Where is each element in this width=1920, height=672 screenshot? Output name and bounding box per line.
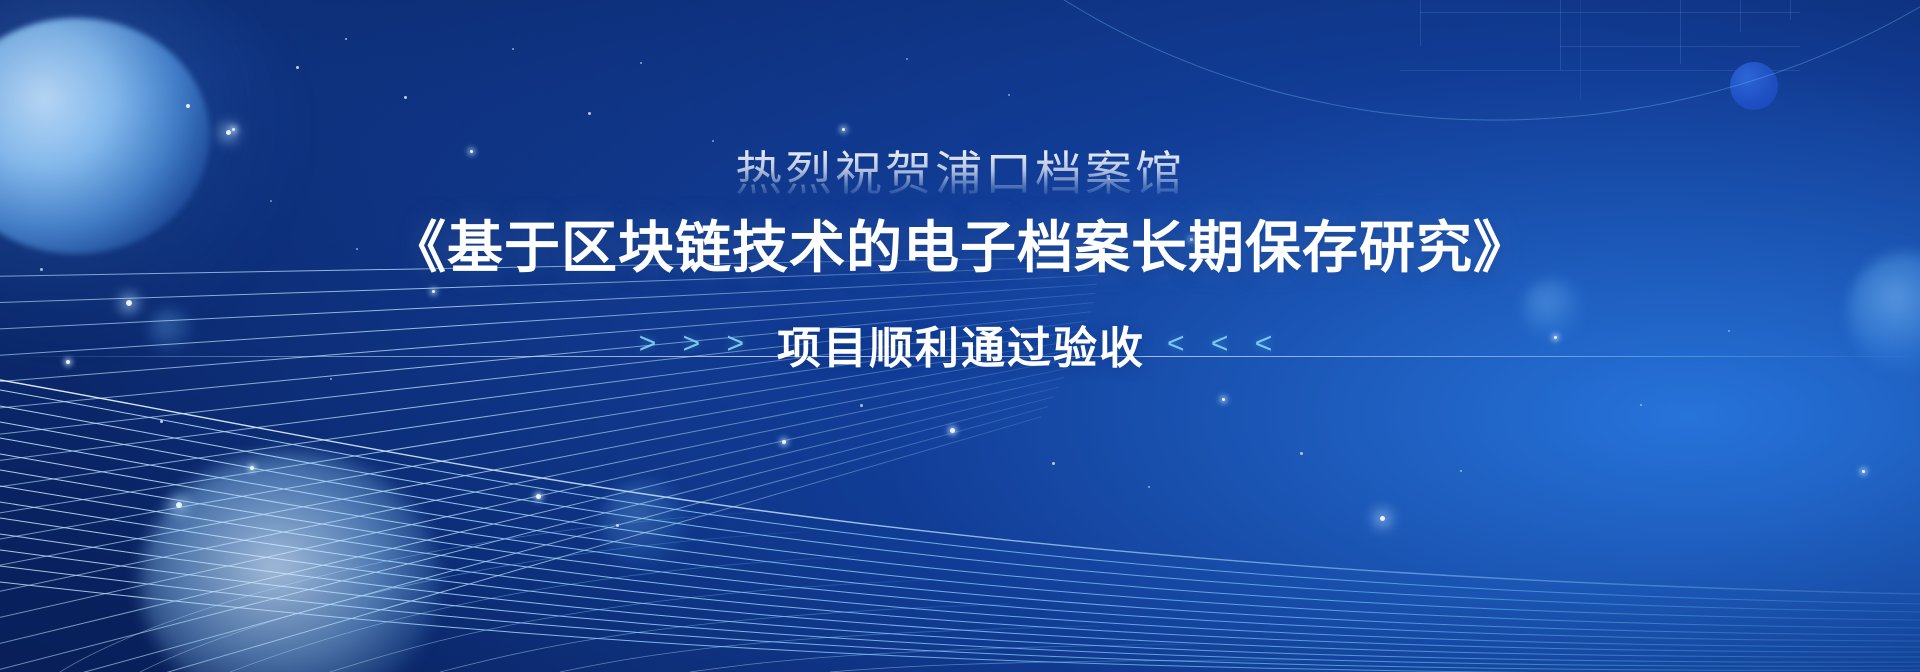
star-icon <box>330 378 332 380</box>
star-icon <box>1222 398 1225 401</box>
star-icon <box>616 524 619 527</box>
star-icon <box>536 494 541 499</box>
star-icon <box>782 440 786 444</box>
wave-crest-glow-icon <box>140 452 440 672</box>
banner-subtitle-row: > > > 项目顺利通过验收 < < < <box>639 312 1281 376</box>
star-icon <box>1300 452 1303 455</box>
star-icon <box>1862 470 1865 473</box>
wave-mesh-icon <box>0 372 1920 672</box>
star-icon <box>950 428 955 433</box>
banner-root: 热烈祝贺浦口档案馆 《基于区块链技术的电子档案长期保存研究》 > > > 项目顺… <box>0 0 1920 672</box>
banner-text-block: 热烈祝贺浦口档案馆 《基于区块链技术的电子档案长期保存研究》 > > > 项目顺… <box>0 0 1920 376</box>
banner-subtitle: 项目顺利通过验收 <box>777 312 1145 376</box>
star-icon <box>1640 404 1642 406</box>
star-icon <box>1380 516 1385 521</box>
chevron-left-triple-icon: < < < <box>1167 327 1281 361</box>
star-icon <box>1148 486 1150 488</box>
star-icon <box>1460 470 1462 472</box>
decor-circle-soft-icon <box>600 480 690 570</box>
star-icon <box>176 502 182 508</box>
banner-title-line1: 热烈祝贺浦口档案馆 <box>735 150 1185 197</box>
star-icon <box>250 466 254 470</box>
banner-title-line2: 《基于区块链技术的电子档案长期保存研究》 <box>390 219 1530 278</box>
star-icon <box>860 404 863 407</box>
chevron-right-triple-icon: > > > <box>639 327 753 361</box>
star-icon <box>1052 462 1055 465</box>
star-icon <box>160 420 163 423</box>
